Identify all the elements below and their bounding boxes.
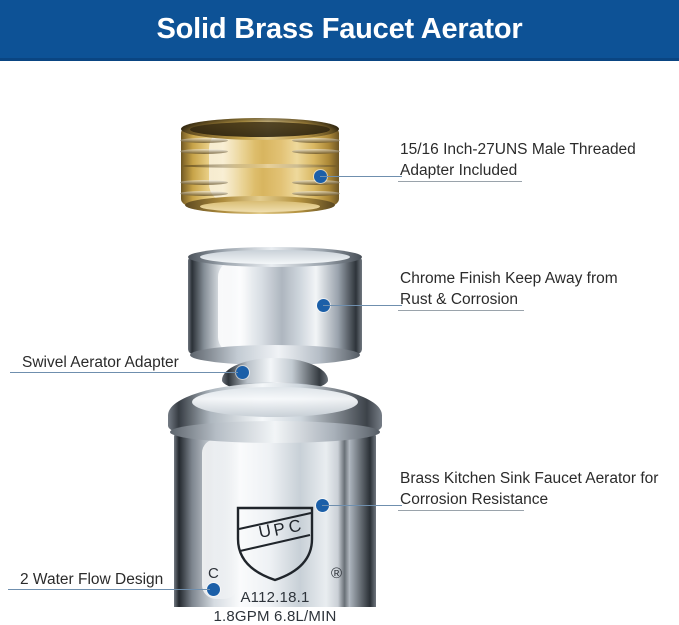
annotation-adapter-included: 15/16 Inch-27UNS Male Threaded Adapter I… <box>400 140 672 182</box>
lower-chrome-highlight <box>202 439 238 599</box>
brass-thread-ridge <box>180 138 228 143</box>
brass-thread-ridge <box>180 149 228 154</box>
annotation-water-flow-text: 2 Water Flow Design <box>20 571 163 588</box>
brass-adapter-part <box>181 118 339 214</box>
lower-chrome-rim <box>170 421 380 443</box>
annotation-underline-chrome-finish <box>398 310 524 311</box>
page-title: Solid Brass Faucet Aerator <box>0 0 679 58</box>
brass-thread-ridge <box>292 138 340 143</box>
leader-line-chrome-finish <box>323 305 402 306</box>
engraving-flow-rate: 1.8GPM 6.8L/MIN <box>168 608 382 625</box>
upper-chrome-top-face <box>200 250 350 264</box>
brass-thread-ridge <box>292 191 340 196</box>
brass-thread-ridge <box>292 149 340 154</box>
brass-thread-ridge <box>180 191 228 196</box>
leader-line-brass-aerator <box>322 505 402 506</box>
annotation-brass-aerator: Brass Kitchen Sink Faucet Aerator for Co… <box>400 469 678 511</box>
upper-chrome-highlight <box>218 261 252 353</box>
annotation-swivel-adapter: Swivel Aerator Adapter <box>22 353 179 374</box>
brass-top-opening <box>190 122 330 137</box>
upper-chrome-part <box>188 247 362 371</box>
annotation-underline-adapter-included <box>398 181 522 182</box>
brass-thread-ridge <box>180 180 228 185</box>
lower-chrome-shoulder-face <box>192 387 358 417</box>
annotation-swivel-adapter-text: Swivel Aerator Adapter <box>22 354 179 371</box>
brass-bottom-face <box>200 201 320 212</box>
brass-groove <box>183 164 337 168</box>
lower-chrome-part: U P C C ® A112.18.1 1.8GPM 6.8L/MIN <box>168 383 382 607</box>
leader-line-adapter-included <box>320 176 402 177</box>
annotation-chrome-finish: Chrome Finish Keep Away from Rust & Corr… <box>400 269 672 311</box>
annotation-chrome-finish-text: Chrome Finish Keep Away from Rust & Corr… <box>400 270 618 308</box>
lower-chrome-shadow-band <box>338 433 350 607</box>
annotation-underline-brass-aerator <box>398 510 524 511</box>
annotation-brass-aerator-text: Brass Kitchen Sink Faucet Aerator for Co… <box>400 470 658 508</box>
annotation-water-flow: 2 Water Flow Design <box>20 570 163 591</box>
annotation-adapter-included-text: 15/16 Inch-27UNS Male Threaded Adapter I… <box>400 141 636 179</box>
